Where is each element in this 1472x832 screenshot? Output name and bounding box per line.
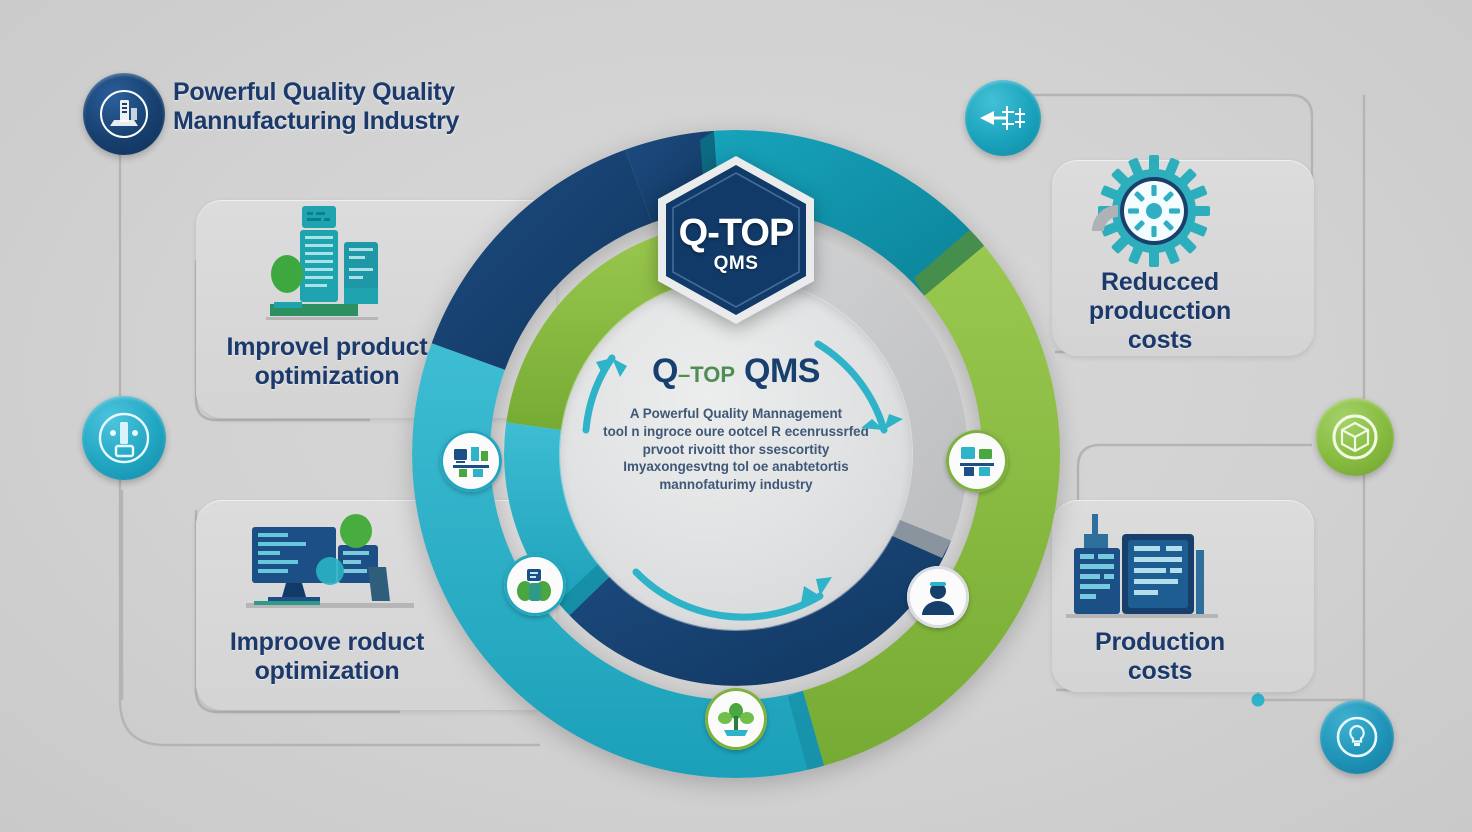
plant-growth-icon	[716, 700, 756, 738]
page-title: Powerful Quality Quality Mannufacturing …	[173, 78, 593, 136]
qtop-hexagon-badge: Q-TOP QMS	[648, 152, 824, 328]
package-cube-icon	[1328, 410, 1382, 464]
satellite-lightbulb-gauge[interactable]	[1320, 700, 1394, 774]
worker-person-icon	[918, 578, 958, 616]
satellite-face-robot[interactable]	[82, 396, 166, 480]
node-workstation[interactable]	[440, 430, 502, 492]
callout-label-improve-product-optimization-top: Improvel product optimization	[214, 333, 440, 391]
arrow-right-down-shaft	[818, 344, 884, 430]
callout-2-line3: costs	[1060, 326, 1260, 355]
callout-label-improve-product-optimization-bottom: Improove roduct optimization	[214, 628, 440, 686]
arrow-up-left-shaft	[586, 358, 612, 430]
callout-1-line2: optimization	[214, 657, 440, 686]
callout-3-line2: costs	[1060, 657, 1260, 686]
money-bag-icon	[515, 567, 555, 603]
callout-2-line1: Reducced	[1060, 268, 1260, 297]
satellite-package-recycle[interactable]	[1316, 398, 1394, 476]
server-cabinet-illustration	[1066, 500, 1222, 624]
arrow-bottom-right-shaft	[636, 572, 820, 617]
node-equipment[interactable]	[946, 430, 1008, 492]
node-recycle-growth[interactable]	[705, 688, 767, 750]
factory-quality-seal-icon	[96, 86, 152, 142]
monitor-dashboard-illustration	[246, 505, 416, 623]
callout-1-line1: Improove roduct	[214, 628, 440, 657]
lightbulb-gauge-icon	[1332, 712, 1382, 762]
header-logo-badge	[83, 73, 165, 155]
gear-cog-illustration	[1082, 145, 1222, 275]
machine-equipment-icon	[957, 443, 997, 479]
infographic-canvas: Powerful Quality Quality Mannufacturing …	[0, 0, 1472, 832]
robot-face-icon	[94, 408, 154, 468]
node-operator[interactable]	[907, 566, 969, 628]
page-title-line1: Powerful Quality Quality	[173, 78, 593, 107]
factory-workstation-icon	[451, 443, 491, 479]
server-rack-plant-illustration	[262, 204, 392, 324]
callout-label-reduced-production-costs: Reducced producction costs	[1060, 268, 1260, 355]
callout-0-line1: Improvel product	[214, 333, 440, 362]
callout-3-line1: Production	[1060, 628, 1260, 657]
callout-label-production-costs: Production costs	[1060, 628, 1260, 686]
callout-2-line2: producction	[1060, 297, 1260, 326]
marker-dot-bottom-right	[1252, 694, 1265, 707]
callout-0-line2: optimization	[214, 362, 440, 391]
node-money-plant[interactable]	[504, 554, 566, 616]
